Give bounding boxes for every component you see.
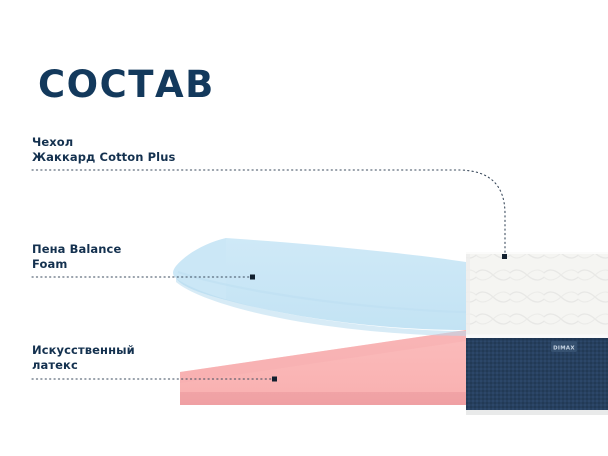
callout-label-foam: Пена Balance Foam <box>32 242 121 272</box>
callout-label-cover: Чехол Жаккард Cotton Plus <box>32 135 175 165</box>
composition-infographic: DIMAX СОСТ <box>0 0 608 456</box>
page-title: СОСТАВ <box>38 66 215 103</box>
leader-line-foam <box>32 275 255 280</box>
leader-line-latex <box>32 377 277 382</box>
callout-label-latex: Искусственный латекс <box>32 343 135 373</box>
